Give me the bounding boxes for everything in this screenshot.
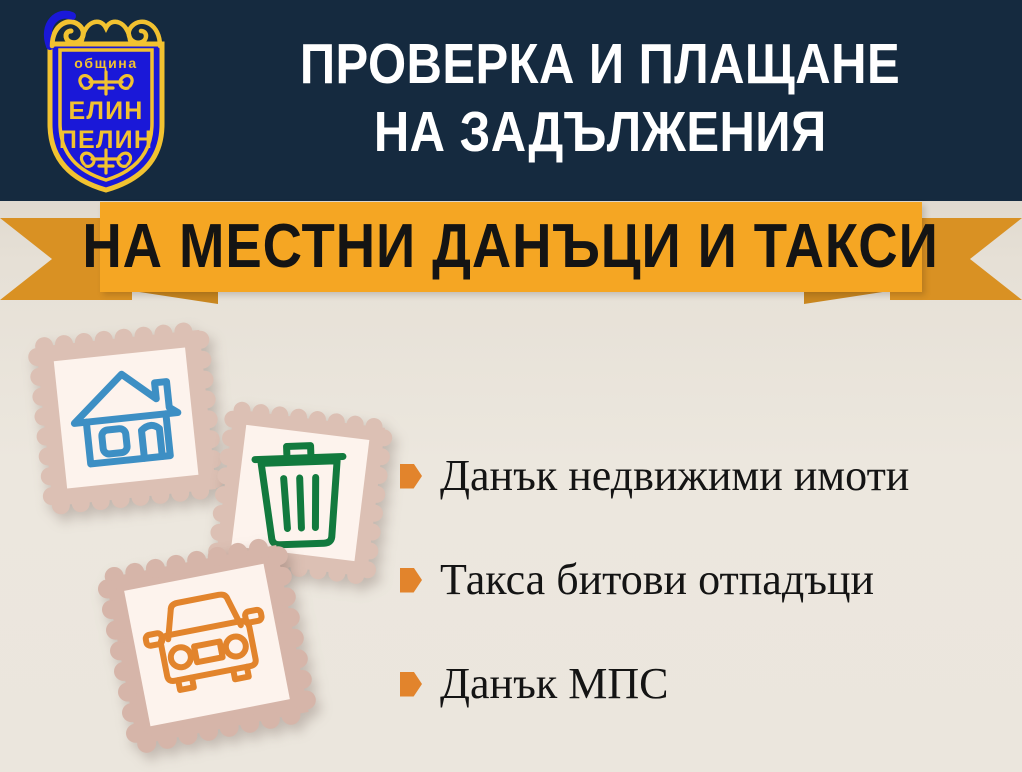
list-item[interactable]: Такса битови отпадъци bbox=[400, 528, 1010, 632]
bullet-arrow-icon bbox=[400, 464, 422, 489]
poster-canvas: община ЕЛИН ПЕЛИН ПРОВЕРКА И П bbox=[0, 0, 1022, 772]
page-title: ПРОВЕРКА И ПЛАЩАНЕ НА ЗАДЪЛЖЕНИЯ bbox=[190, 14, 1010, 184]
page-title-line-2: НА ЗАДЪЛЖЕНИЯ bbox=[374, 99, 827, 167]
list-item-label: Данък МПС bbox=[440, 662, 668, 706]
ribbon-plate: НА МЕСТНИ ДАНЪЦИ И ТАКСИ bbox=[100, 202, 922, 292]
emblem-top-text: община bbox=[74, 55, 137, 71]
list-item-label: Такса битови отпадъци bbox=[440, 558, 874, 602]
bullet-arrow-icon bbox=[400, 672, 422, 697]
municipality-emblem-icon: община ЕЛИН ПЕЛИН bbox=[22, 6, 190, 196]
stamp-card-vehicle bbox=[92, 534, 322, 756]
list-item-label: Данък недвижими имоти bbox=[440, 454, 909, 498]
subtitle-ribbon: НА МЕСТНИ ДАНЪЦИ И ТАКСИ bbox=[0, 196, 1022, 308]
ribbon-subtitle-text: НА МЕСТНИ ДАНЪЦИ И ТАКСИ bbox=[83, 216, 939, 278]
emblem-name-line-1: ЕЛИН bbox=[68, 97, 143, 125]
list-item[interactable]: Данък МПС bbox=[400, 632, 1010, 736]
bullet-arrow-icon bbox=[400, 568, 422, 593]
list-item[interactable]: Данък недвижими имоти bbox=[400, 424, 1010, 528]
trash-bin-icon bbox=[255, 445, 346, 546]
tax-type-list: Данък недвижими имоти Такса битови отпад… bbox=[400, 424, 1010, 736]
page-title-line-1: ПРОВЕРКА И ПЛАЩАНЕ bbox=[300, 31, 900, 99]
